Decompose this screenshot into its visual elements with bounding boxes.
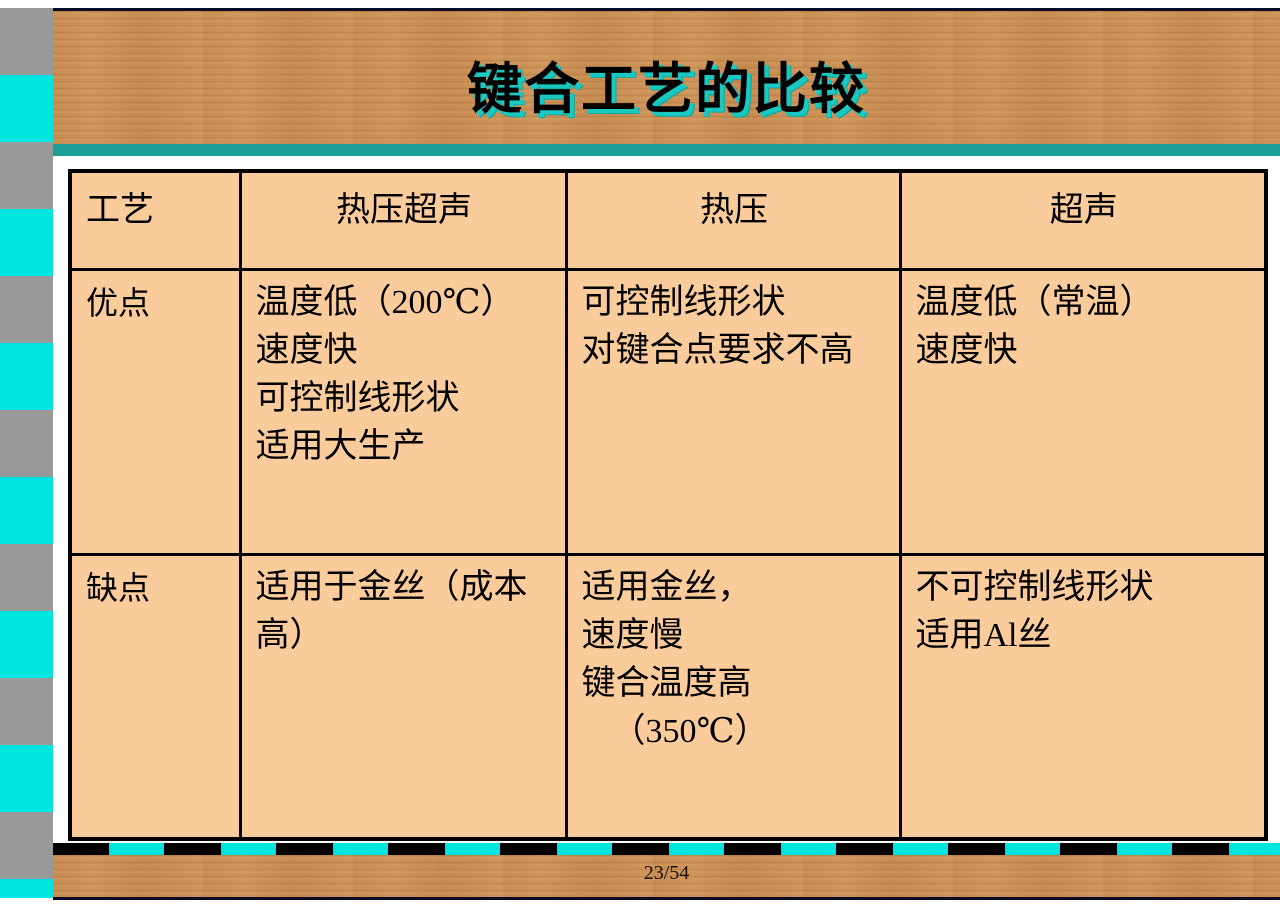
- page-number: 23/54: [53, 862, 1280, 885]
- cell-text-line: 键合温度高: [582, 660, 887, 708]
- cell-text-line: 适用于金丝（成本高）: [256, 564, 553, 660]
- rail-block: [0, 209, 53, 276]
- cell-text-line: 可控制线形状: [582, 279, 887, 327]
- dash-segment: [1229, 843, 1280, 855]
- cell-text-line: 温度低（常温）: [916, 279, 1253, 327]
- cell-advantages-thermocompression: 可控制线形状对键合点要求不高: [566, 270, 900, 554]
- row-label-advantages: 优点: [70, 270, 240, 554]
- dash-segment: [389, 843, 444, 855]
- dash-segment: [333, 843, 388, 855]
- dash-segment: [109, 843, 164, 855]
- cell-disadvantages-ultrasonic: 不可控制线形状适用Al丝: [900, 554, 1266, 839]
- table-header-thermosonic: 热压超声: [240, 171, 566, 270]
- dash-segment: [221, 843, 276, 855]
- dash-segment: [1005, 843, 1060, 855]
- rail-block: [0, 142, 53, 209]
- cell-text-line: 速度慢: [582, 612, 887, 660]
- footer-dash-strip: [53, 843, 1280, 855]
- rail-block: [0, 75, 53, 142]
- rail-block: [0, 678, 53, 745]
- rail-block: [0, 611, 53, 678]
- cell-text-line: 速度快: [256, 327, 553, 375]
- dash-segment: [893, 843, 948, 855]
- cell-advantages-ultrasonic: 温度低（常温）速度快: [900, 270, 1266, 554]
- dash-segment: [669, 843, 724, 855]
- cell-text-line: 对键合点要求不高: [582, 327, 887, 375]
- rail-block: [0, 812, 53, 879]
- rail-block: [0, 343, 53, 410]
- dash-segment: [949, 843, 1004, 855]
- page-title: 键合工艺的比较: [53, 58, 1280, 122]
- cell-advantages-thermosonic: 温度低（200℃）速度快可控制线形状适用大生产: [240, 270, 566, 554]
- rail-block: [0, 544, 53, 611]
- table-header-thermocompression: 热压: [566, 171, 900, 270]
- dash-segment: [781, 843, 836, 855]
- dash-segment: [613, 843, 668, 855]
- cell-text-line: 可控制线形状: [256, 375, 553, 423]
- comparison-table: 工艺 热压超声 热压 超声 优点 温度低（200℃）速度快可控制线形状适用大生产…: [68, 169, 1268, 841]
- cell-text-line: 适用Al丝: [916, 612, 1253, 660]
- rail-block: [0, 276, 53, 343]
- row-label-disadvantages: 缺点: [70, 554, 240, 839]
- footer-wood-band: 23/54: [53, 855, 1280, 900]
- cell-text-line: 速度快: [916, 327, 1253, 375]
- dash-segment: [165, 843, 220, 855]
- rail-block: [0, 745, 53, 812]
- table-row-disadvantages: 缺点 适用于金丝（成本高） 适用金丝，速度慢键合温度高（350℃） 不可控制线形…: [70, 554, 1266, 839]
- cell-text-line: 温度低（200℃）: [256, 279, 553, 327]
- cell-disadvantages-thermosonic: 适用于金丝（成本高）: [240, 554, 566, 839]
- table-header-process: 工艺: [70, 171, 240, 270]
- rail-block: [0, 879, 53, 898]
- rail-block: [0, 410, 53, 477]
- table-header-row: 工艺 热压超声 热压 超声: [70, 171, 1266, 270]
- slide-canvas: 键合工艺的比较 工艺 热压超声 热压 超声 优点 温度低（200℃）速度快可控制…: [0, 0, 1280, 905]
- cell-text-line: 适用大生产: [256, 423, 553, 471]
- rail-block: [0, 477, 53, 544]
- dash-segment: [445, 843, 500, 855]
- dash-segment: [557, 843, 612, 855]
- cell-text-line: 适用金丝，: [582, 564, 887, 612]
- cell-disadvantages-thermocompression: 适用金丝，速度慢键合温度高（350℃）: [566, 554, 900, 839]
- left-decorative-rail: [0, 8, 53, 898]
- dash-segment: [1173, 843, 1228, 855]
- dash-segment: [277, 843, 332, 855]
- dash-segment: [837, 843, 892, 855]
- dash-segment: [501, 843, 556, 855]
- table-header-ultrasonic: 超声: [900, 171, 1266, 270]
- cell-text-line: 不可控制线形状: [916, 564, 1253, 612]
- dash-segment: [1117, 843, 1172, 855]
- dash-segment: [53, 843, 108, 855]
- table-row-advantages: 优点 温度低（200℃）速度快可控制线形状适用大生产 可控制线形状对键合点要求不…: [70, 270, 1266, 554]
- slide-body: 工艺 热压超声 热压 超声 优点 温度低（200℃）速度快可控制线形状适用大生产…: [53, 156, 1280, 843]
- rail-block: [0, 8, 53, 75]
- dash-segment: [725, 843, 780, 855]
- dash-segment: [1061, 843, 1116, 855]
- cell-text-line: （350℃）: [582, 708, 887, 756]
